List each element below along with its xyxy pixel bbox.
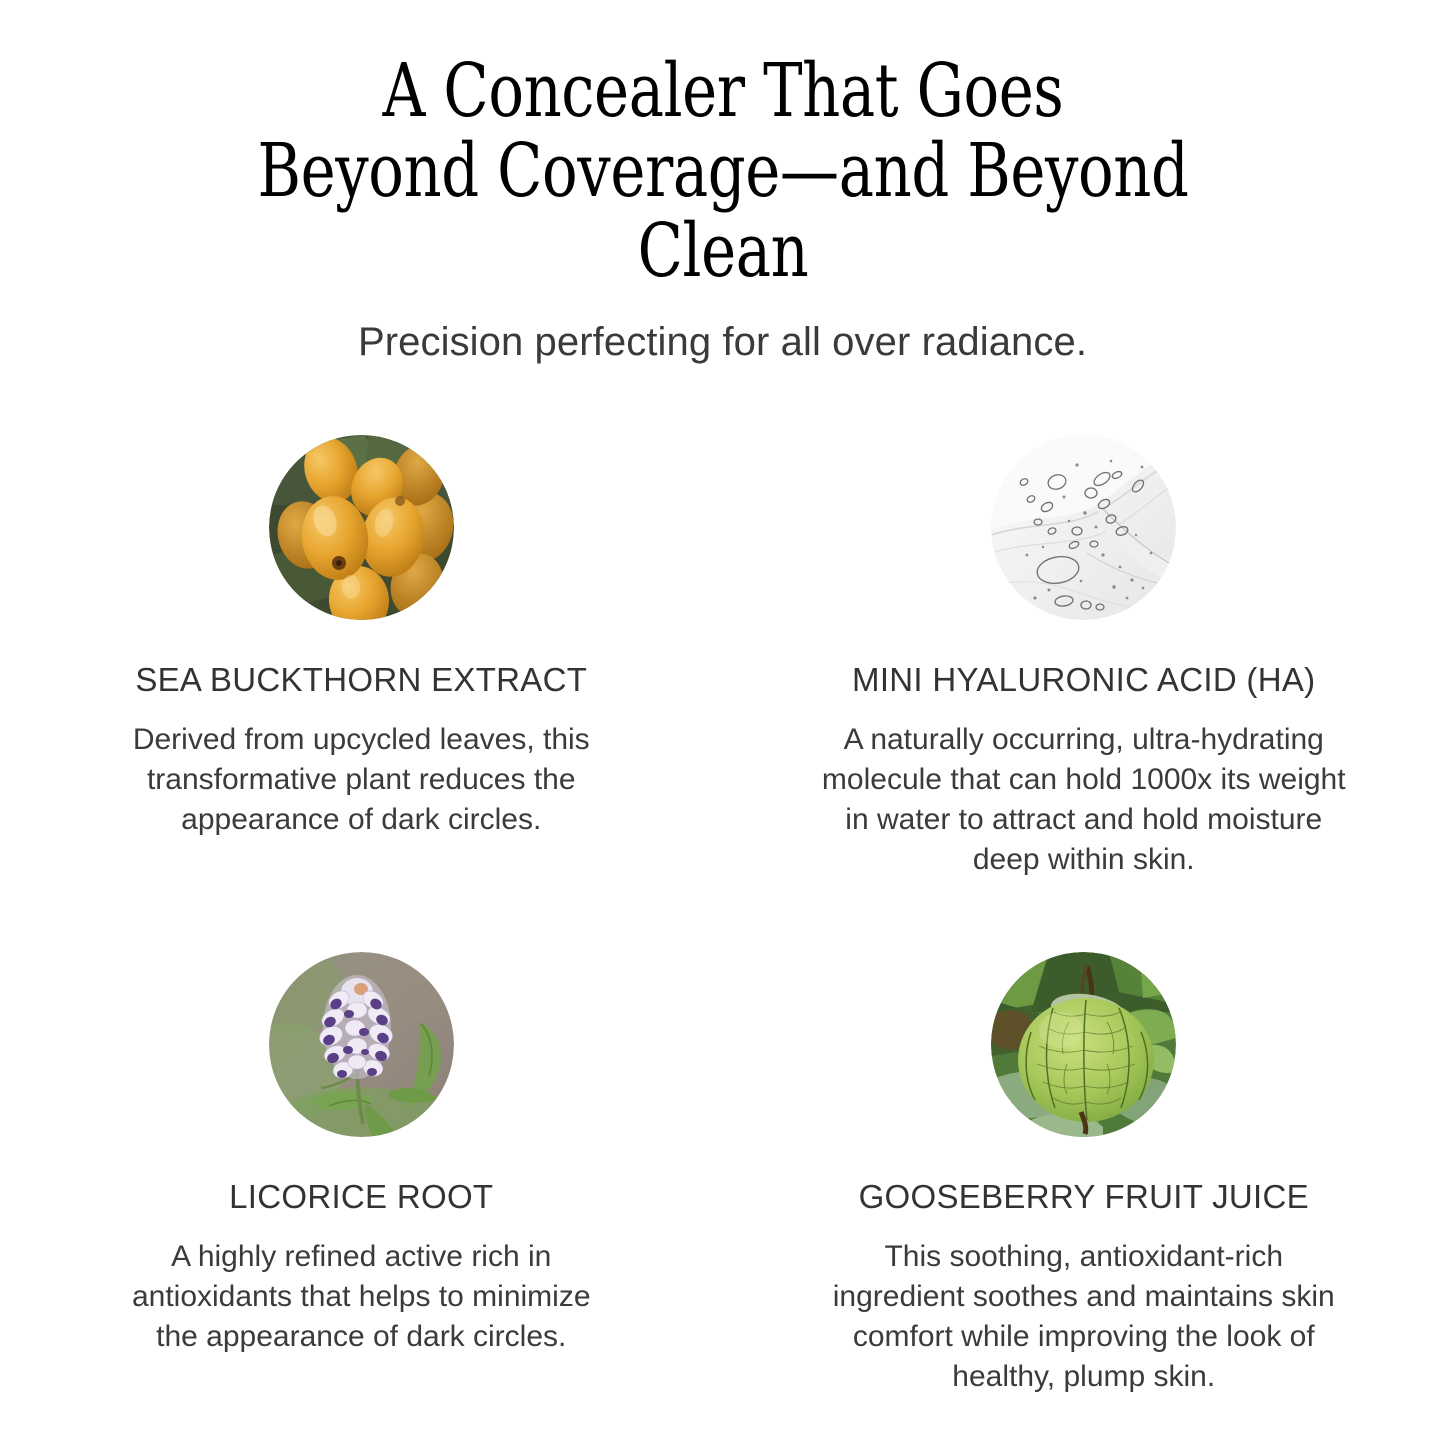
- card-title: MINI HYALURONIC ACID (HA): [852, 662, 1315, 698]
- card-description: This soothing, antioxidant-rich ingredie…: [819, 1237, 1349, 1397]
- page-title: A Concealer That Goes Beyond Coverage—an…: [227, 52, 1219, 292]
- card-description: A naturally occurring, ultra-hydrating m…: [819, 720, 1349, 880]
- card-title: SEA BUCKTHORN EXTRACT: [135, 662, 587, 698]
- card-title: LICORICE ROOT: [229, 1179, 493, 1215]
- page-subtitle: Precision perfecting for all over radian…: [0, 320, 1445, 365]
- hyaluronic-acid-gel-image: [991, 435, 1176, 620]
- ingredient-grid: SEA BUCKTHORN EXTRACT Derived from upcyc…: [0, 435, 1445, 1397]
- ingredient-card-mini-hyaluronic-acid: MINI HYALURONIC ACID (HA) A naturally oc…: [723, 435, 1445, 880]
- card-description: Derived from upcycled leaves, this trans…: [126, 720, 596, 840]
- sea-buckthorn-berries-image: [269, 435, 454, 620]
- page-header: A Concealer That Goes Beyond Coverage—an…: [0, 0, 1445, 365]
- licorice-root-flower-image: [269, 952, 454, 1137]
- ingredient-card-licorice-root: LICORICE ROOT A highly refined active ri…: [0, 952, 723, 1397]
- card-description: A highly refined active rich in antioxid…: [126, 1237, 596, 1357]
- ingredient-benefits-page: A Concealer That Goes Beyond Coverage—an…: [0, 0, 1445, 1445]
- ingredient-card-sea-buckthorn: SEA BUCKTHORN EXTRACT Derived from upcyc…: [0, 435, 723, 880]
- ingredient-card-gooseberry-fruit-juice: GOOSEBERRY FRUIT JUICE This soothing, an…: [723, 952, 1445, 1397]
- gooseberry-fruit-image: [991, 952, 1176, 1137]
- card-title: GOOSEBERRY FRUIT JUICE: [859, 1179, 1309, 1215]
